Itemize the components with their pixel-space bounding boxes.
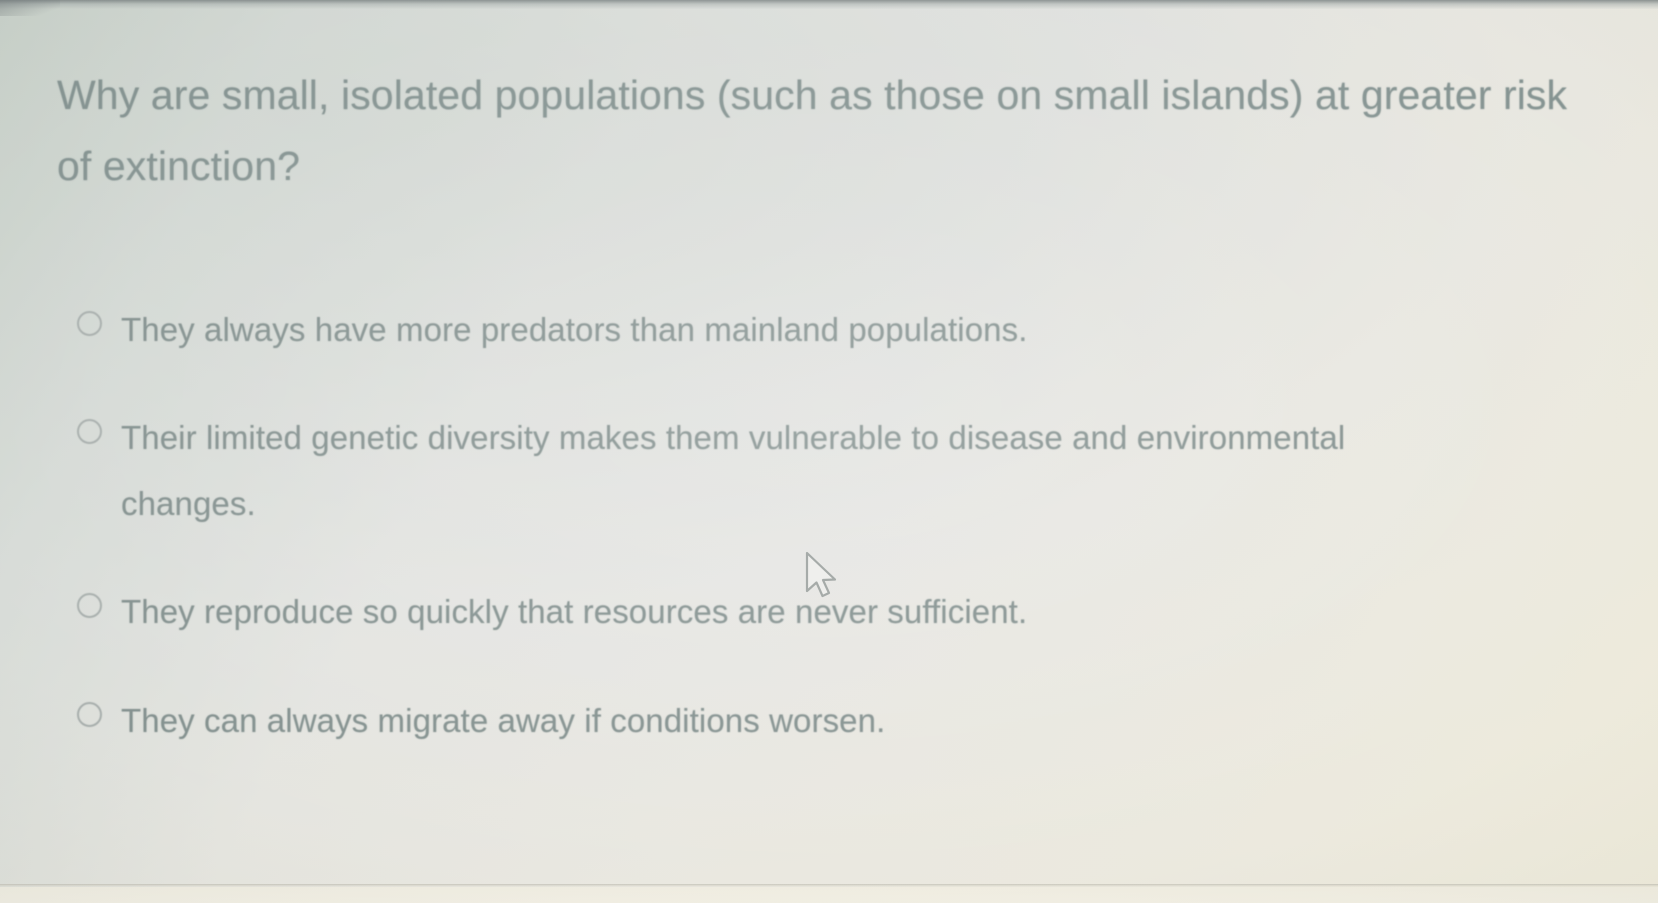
answer-option-d[interactable]: They can always migrate away if conditio… — [57, 688, 1587, 754]
radio-button-icon[interactable] — [77, 419, 102, 444]
answer-option-b-label: Their limited genetic diversity makes th… — [121, 405, 1481, 537]
answer-option-a[interactable]: They always have more predators than mai… — [57, 297, 1587, 363]
answer-option-c[interactable]: They reproduce so quickly that resources… — [57, 579, 1587, 645]
radio-button-icon[interactable] — [77, 311, 102, 336]
question-content: Why are small, isolated populations (suc… — [0, 0, 1658, 903]
quiz-question-screen: Why are small, isolated populations (suc… — [0, 0, 1658, 903]
radio-button-icon[interactable] — [77, 593, 102, 618]
bottom-strip — [0, 887, 1658, 903]
answer-options-list: They always have more predators than mai… — [57, 297, 1587, 754]
answer-option-a-label: They always have more predators than mai… — [121, 297, 1027, 363]
answer-option-d-label: They can always migrate away if conditio… — [121, 688, 885, 754]
answer-option-c-label: They reproduce so quickly that resources… — [121, 579, 1027, 645]
answer-option-b[interactable]: Their limited genetic diversity makes th… — [57, 405, 1587, 537]
radio-button-icon[interactable] — [77, 702, 102, 727]
top-edge-shadow — [0, 0, 1658, 9]
question-text: Why are small, isolated populations (suc… — [57, 60, 1577, 202]
top-left-corner-shadow — [0, 0, 60, 16]
